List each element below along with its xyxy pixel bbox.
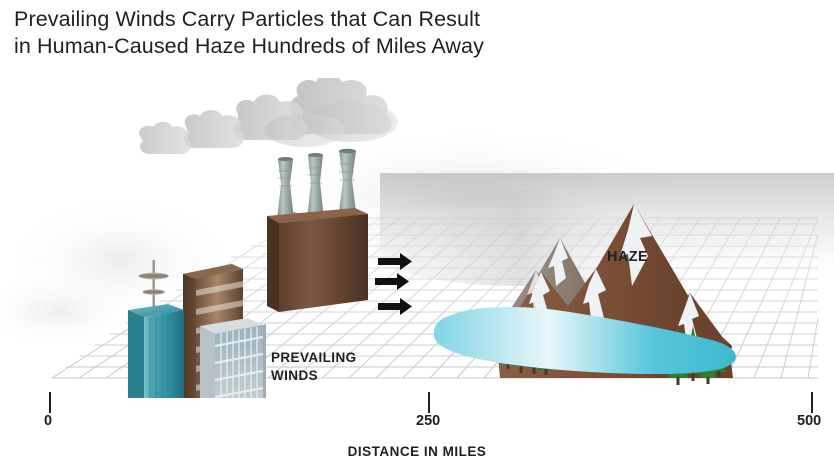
page-title: Prevailing Winds Carry Particles that Ca… bbox=[14, 6, 654, 60]
axis-tick-label-250: 250 bbox=[416, 413, 440, 429]
illustration-page: Prevailing Winds Carry Particles that Ca… bbox=[0, 0, 834, 469]
axis-tick-0 bbox=[49, 392, 51, 413]
haze-label: HAZE bbox=[607, 249, 648, 265]
axis-tick-500 bbox=[811, 392, 813, 413]
axis-tick-label-500: 500 bbox=[797, 413, 821, 429]
prevailing-winds-label: PREVAILING WINDS bbox=[271, 349, 357, 385]
scene-svg bbox=[0, 78, 834, 398]
distance-axis: 0 250 500 bbox=[0, 392, 834, 432]
axis-tick-label-0: 0 bbox=[44, 413, 52, 429]
scene-illustration: HAZE PREVAILING WINDS bbox=[0, 78, 834, 398]
axis-tick-250 bbox=[428, 392, 430, 413]
gray-glass-building bbox=[200, 318, 266, 398]
axis-caption: DISTANCE IN MILES bbox=[0, 444, 834, 459]
haze-gradient bbox=[350, 173, 834, 288]
